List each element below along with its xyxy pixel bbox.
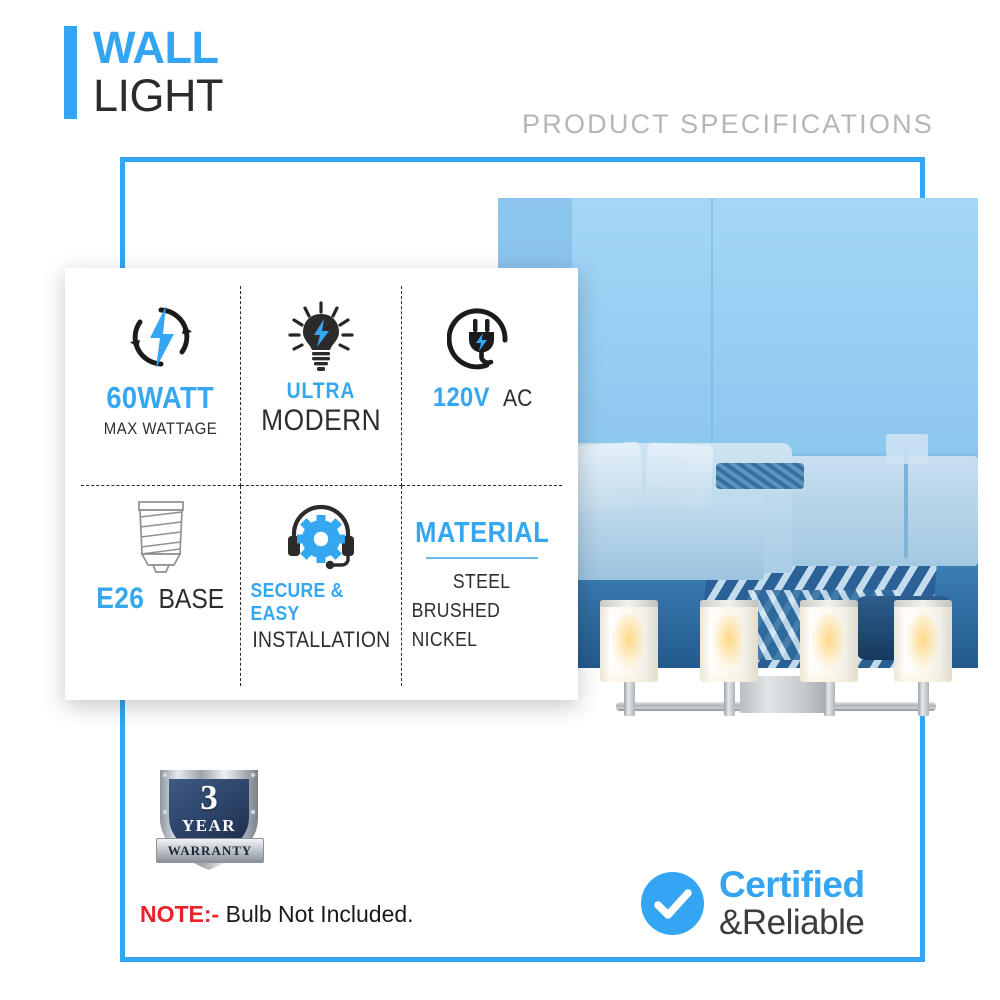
fixture-bulb-glow — [612, 614, 646, 670]
note-label: NOTE:- — [140, 901, 219, 927]
spec-label-installation: INSTALLATION — [252, 627, 390, 653]
fixture-shade-rim — [600, 600, 658, 607]
spec-cell-material: MATERIAL STEEL BRUSHED NICKEL — [402, 486, 562, 686]
e26-screw-base-icon — [122, 498, 200, 576]
certified-line-1: Certified — [719, 866, 865, 903]
spec-value-style: ULTRA — [287, 378, 356, 404]
title-line-light: LIGHT — [93, 72, 223, 119]
product-fixture — [588, 614, 960, 736]
spec-label-style: MODERN — [261, 404, 381, 438]
spec-label-current-type: AC — [503, 385, 532, 413]
warranty-years: 3 — [152, 778, 266, 818]
fixture-glass-shade — [700, 600, 758, 682]
spec-value-material-1: STEEL — [453, 568, 511, 597]
photo-pillow — [644, 442, 713, 509]
spec-grid: 60WATT MAX WATTAGE — [81, 286, 562, 686]
title-line-wall: WALL — [93, 26, 223, 70]
spec-value-voltage: 120V — [433, 382, 490, 413]
certified-line-2: &Reliable — [719, 905, 865, 940]
note-text: Bulb Not Included. — [219, 901, 413, 927]
spec-title-material: MATERIAL — [415, 517, 549, 550]
certified-text-group: Certified &Reliable — [719, 866, 865, 940]
photo-lamp-head — [886, 434, 928, 464]
title-accent-bar — [64, 26, 77, 119]
spec-value-installation: SECURE & EASY — [251, 580, 391, 626]
spec-label-base: BASE — [159, 583, 225, 615]
infographic-canvas: WALL LIGHT PRODUCT SPECIFICATIONS — [0, 0, 1000, 1000]
spec-value-base: E26 — [96, 582, 144, 616]
light-bulb-bolt-icon — [286, 298, 356, 376]
fixture-shade-rim — [700, 600, 758, 607]
fixture-shade-rim — [894, 600, 952, 607]
certified-badge: Certified &Reliable — [641, 866, 865, 940]
spec-cell-voltage: 120V AC — [402, 286, 562, 486]
fixture-bulb-glow — [712, 614, 746, 670]
power-plug-circle-icon — [447, 298, 517, 376]
spec-heading: PRODUCT SPECIFICATIONS — [522, 109, 934, 140]
spec-value-wattage: 60WATT — [107, 380, 215, 416]
warranty-badge: 3 YEAR WARRANTY — [152, 762, 266, 874]
power-cycle-bolt-icon — [126, 298, 196, 376]
spec-cell-max-wattage: 60WATT MAX WATTAGE — [81, 286, 241, 486]
fixture-glass-shade — [800, 600, 858, 682]
warranty-banner: WARRANTY — [156, 838, 264, 863]
title-text-group: WALL LIGHT — [93, 26, 223, 119]
spec-value-material-2: BRUSHED NICKEL — [411, 597, 552, 655]
photo-pillow — [568, 442, 644, 513]
headset-gear-icon — [281, 498, 361, 576]
page-title: WALL LIGHT — [64, 26, 223, 119]
spec-base-row: E26 BASE — [93, 582, 229, 616]
spec-cell-base: E26 BASE — [81, 486, 241, 686]
photo-wall-main — [572, 198, 978, 453]
fixture-glass-shade — [894, 600, 952, 682]
spec-cell-installation: SECURE & EASY INSTALLATION — [241, 486, 401, 686]
note-line: NOTE:- Bulb Not Included. — [140, 901, 414, 928]
warranty-unit: YEAR — [152, 816, 266, 836]
warranty-banner-label: WARRANTY — [168, 843, 253, 859]
spec-cell-style: ULTRA MODERN — [241, 286, 401, 486]
fixture-bulb-glow — [812, 614, 846, 670]
photo-sofa-right — [780, 456, 978, 566]
fixture-shade-rim — [800, 600, 858, 607]
photo-pillow — [716, 463, 804, 489]
check-circle-icon — [641, 872, 704, 935]
spec-card: 60WATT MAX WATTAGE — [65, 268, 578, 700]
photo-wall-seam — [711, 198, 713, 456]
fixture-glass-shade — [600, 600, 658, 682]
spec-voltage-row: 120V AC — [429, 382, 534, 413]
material-divider — [426, 557, 538, 559]
spec-label-wattage: MAX WATTAGE — [104, 419, 218, 439]
fixture-bulb-glow — [906, 614, 940, 670]
